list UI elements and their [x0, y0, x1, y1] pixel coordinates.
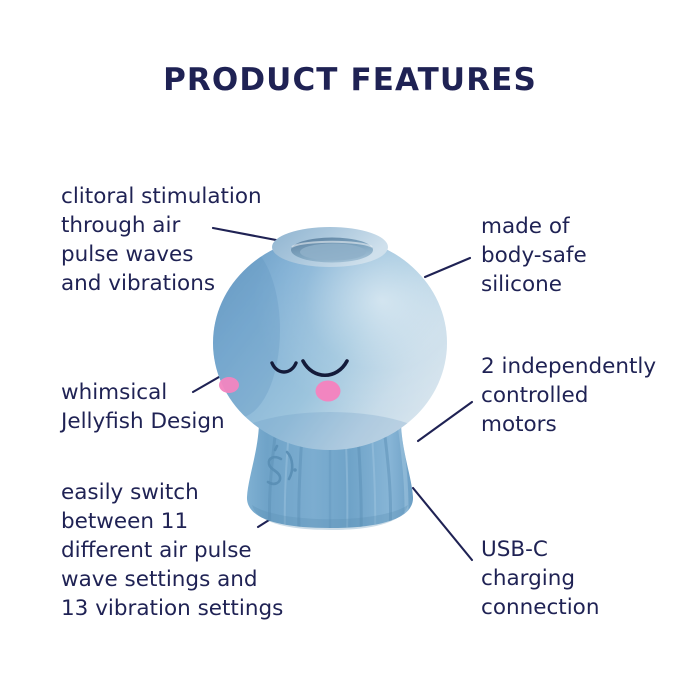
feature-design-label: whimsical Jellyfish Design — [61, 378, 296, 436]
feature-usb-label: USB-C charging connection — [481, 535, 681, 622]
leader-usb — [413, 488, 472, 560]
leader-motors — [418, 402, 472, 441]
leader-silicone — [425, 258, 470, 277]
feature-motors-label: 2 independently controlled motors — [481, 352, 686, 439]
product-features-infographic: PRODUCT FEATURES — [0, 0, 700, 700]
right-blush — [316, 381, 341, 402]
feature-silicone-label: made of body-safe silicone — [481, 212, 681, 299]
feature-settings-label: easily switch between 11 different air p… — [61, 478, 311, 623]
feature-air-pulse-label: clitoral stimulation through air pulse w… — [61, 182, 296, 298]
